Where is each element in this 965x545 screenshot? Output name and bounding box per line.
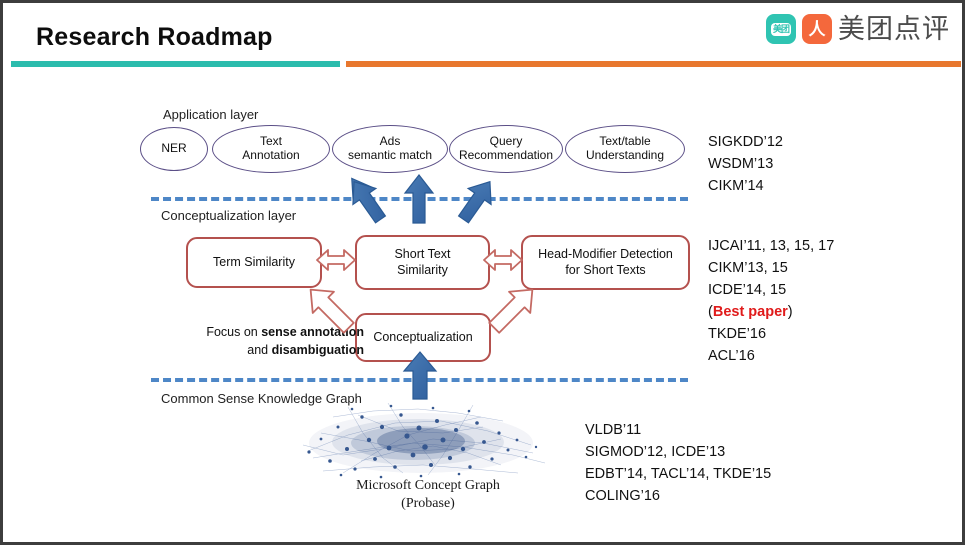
app-node-ads-semantic-match[interactable]: Ads semantic match xyxy=(332,125,448,173)
app-node-ner-label: NER xyxy=(161,142,186,156)
knowledge-graph-caption-line1: Microsoft Concept Graph xyxy=(303,477,553,495)
concept-node-sts-line2: Similarity xyxy=(397,263,448,277)
app-node-query-line2: Recommendation xyxy=(459,148,553,162)
meituan-badge-label: 美团 xyxy=(771,23,791,36)
app-node-query-recommendation[interactable]: Query Recommendation xyxy=(449,125,563,173)
citation-item: WSDM’13 xyxy=(708,153,783,175)
app-node-ads-line2: semantic match xyxy=(348,148,432,162)
title-underline-teal xyxy=(11,61,340,67)
divider-application-conceptualization xyxy=(151,197,688,201)
focus-note-bold-sense-annotation: sense annotation xyxy=(261,325,364,339)
dianping-badge-glyph: 人 xyxy=(809,21,826,38)
citation-item: VLDB’11 xyxy=(585,419,771,441)
best-paper-label: Best paper xyxy=(713,304,788,320)
citation-item: CIKM’13, 15 xyxy=(708,257,834,279)
focus-note-bold-disambiguation: disambiguation xyxy=(272,343,364,357)
concept-node-hmd-line1: Head-Modifier Detection xyxy=(538,247,673,261)
citation-item: SIGMOD’12, ICDE’13 xyxy=(585,441,771,463)
app-node-text-table-understanding[interactable]: Text/table Understanding xyxy=(565,125,685,173)
knowledge-graph-caption-line2: (Probase) xyxy=(303,495,553,513)
meituan-badge-icon: 美团 xyxy=(766,14,796,44)
citation-item: TKDE’16 xyxy=(708,323,834,345)
brand-logo-text: 美团点评 xyxy=(838,16,950,43)
citation-item: ACL’16 xyxy=(708,345,834,367)
app-node-texttable-line1: Text/table xyxy=(599,134,650,148)
concept-node-term-similarity-label: Term Similarity xyxy=(213,255,295,271)
citation-item: COLING’16 xyxy=(585,485,771,507)
conceptualization-layer-label: Conceptualization layer xyxy=(161,208,296,223)
citation-item: IJCAI’11, 13, 15, 17 xyxy=(708,235,834,257)
focus-note: Focus on sense annotation and disambigua… xyxy=(199,323,364,359)
red-double-arrow-left xyxy=(317,250,355,270)
citation-item: ICDE’14, 15 xyxy=(708,279,834,301)
app-node-text-annotation-line1: Text xyxy=(260,134,282,148)
dianping-badge-icon: 人 xyxy=(802,14,832,44)
page-title: Research Roadmap xyxy=(36,23,273,52)
citation-item: EDBT’14, TACL’14, TKDE’15 xyxy=(585,463,771,485)
knowledge-graph-caption: Microsoft Concept Graph (Probase) xyxy=(303,477,553,512)
title-underline-orange xyxy=(346,61,961,67)
app-node-query-line1: Query xyxy=(490,134,523,148)
slide: Research Roadmap 美团 人 美团点评 Application l… xyxy=(0,0,965,545)
citation-item: CIKM’14 xyxy=(708,175,783,197)
brand-logo: 美团 人 美团点评 xyxy=(766,14,950,44)
app-node-text-annotation-line2: Annotation xyxy=(242,148,299,162)
app-node-ads-line1: Ads xyxy=(380,134,401,148)
knowledge-graph-network-image xyxy=(303,403,545,478)
citation-best-paper: (Best paper) xyxy=(708,301,834,323)
concept-node-conceptualization-label: Conceptualization xyxy=(373,330,472,346)
application-layer-label: Application layer xyxy=(163,107,258,122)
citations-application: SIGKDD’12 WSDM’13 CIKM’14 xyxy=(708,131,783,197)
app-node-ner[interactable]: NER xyxy=(140,127,208,171)
app-node-text-annotation[interactable]: Text Annotation xyxy=(212,125,330,173)
focus-note-middle: and xyxy=(247,343,271,357)
citation-item: SIGKDD’12 xyxy=(708,131,783,153)
focus-note-prefix: Focus on xyxy=(206,325,261,339)
concept-node-hmd-line2: for Short Texts xyxy=(565,263,645,277)
concept-node-short-text-similarity[interactable]: Short Text Similarity xyxy=(355,235,490,290)
concept-node-term-similarity[interactable]: Term Similarity xyxy=(186,237,322,288)
concept-node-head-modifier-detection[interactable]: Head-Modifier Detection for Short Texts xyxy=(521,235,690,290)
concept-node-conceptualization[interactable]: Conceptualization xyxy=(355,313,491,362)
divider-conceptualization-commonsense xyxy=(151,378,688,382)
citations-knowledge-graph: VLDB’11 SIGMOD’12, ICDE’13 EDBT’14, TACL… xyxy=(585,419,771,507)
best-paper-close-paren: ) xyxy=(788,304,793,320)
common-sense-layer-label: Common Sense Knowledge Graph xyxy=(161,391,362,406)
app-node-texttable-line2: Understanding xyxy=(586,148,664,162)
citations-conceptualization: IJCAI’11, 13, 15, 17 CIKM’13, 15 ICDE’14… xyxy=(708,235,834,367)
concept-node-sts-line1: Short Text xyxy=(394,247,450,261)
